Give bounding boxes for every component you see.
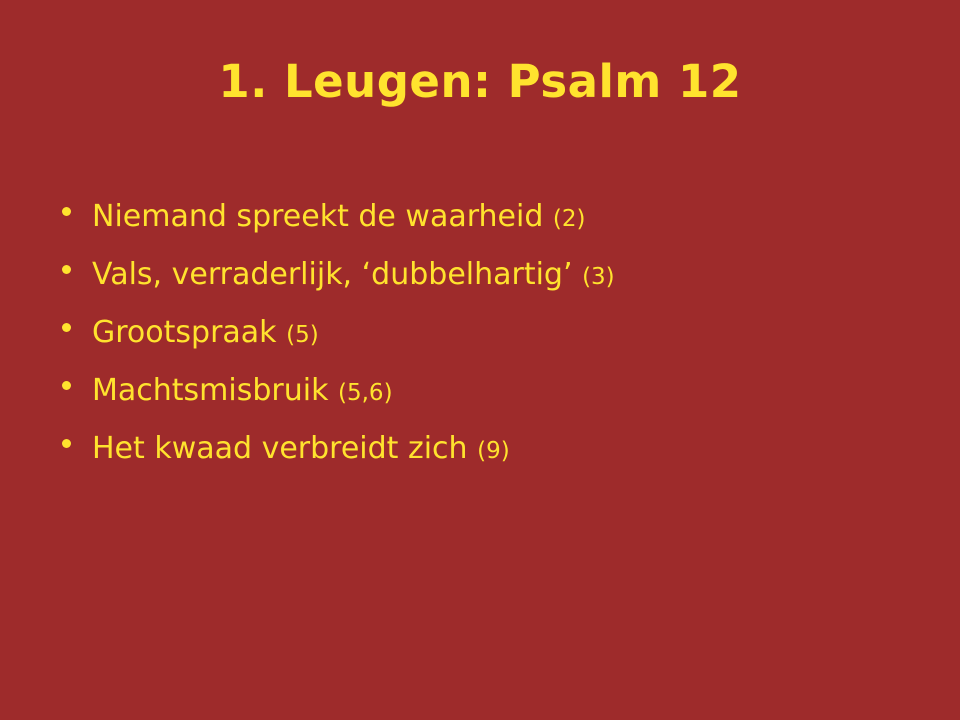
- bullet-point-icon: [62, 374, 92, 404]
- list-item-label: Machtsmisbruik: [92, 373, 328, 408]
- verse-reference: (2): [553, 206, 586, 232]
- list-item-text: Het kwaad verbreidt zich (9): [92, 432, 902, 467]
- list-item: Niemand spreekt de waarheid (2): [62, 200, 902, 258]
- bullet-point-icon: [62, 432, 92, 462]
- list-item-label: Grootspraak: [92, 315, 277, 350]
- list-item-label: Niemand spreekt de waarheid: [92, 199, 543, 234]
- list-item: Vals, verraderlijk, ‘dubbelhartig’ (3): [62, 258, 902, 316]
- list-item-label: Het kwaad verbreidt zich: [92, 431, 468, 466]
- presentation-slide: 1. Leugen: Psalm 12 Niemand spreekt de w…: [0, 0, 960, 720]
- verse-reference: (3): [582, 264, 615, 290]
- bullet-point-icon: [62, 200, 92, 230]
- list-item: Het kwaad verbreidt zich (9): [62, 432, 902, 490]
- list-item-text: Grootspraak (5): [92, 316, 902, 351]
- bullet-point-icon: [62, 316, 92, 346]
- list-item: Machtsmisbruik (5,6): [62, 374, 902, 432]
- list-item-text: Machtsmisbruik (5,6): [92, 374, 902, 409]
- verse-reference: (5): [286, 322, 319, 348]
- bullet-point-icon: [62, 258, 92, 288]
- slide-title: 1. Leugen: Psalm 12: [0, 57, 960, 107]
- list-item-text: Vals, verraderlijk, ‘dubbelhartig’ (3): [92, 258, 902, 293]
- verse-reference: (9): [477, 438, 510, 464]
- list-item: Grootspraak (5): [62, 316, 902, 374]
- bullet-list: Niemand spreekt de waarheid (2) Vals, ve…: [62, 200, 902, 490]
- list-item-label: Vals, verraderlijk, ‘dubbelhartig’: [92, 257, 573, 292]
- list-item-text: Niemand spreekt de waarheid (2): [92, 200, 902, 235]
- verse-reference: (5,6): [338, 380, 393, 406]
